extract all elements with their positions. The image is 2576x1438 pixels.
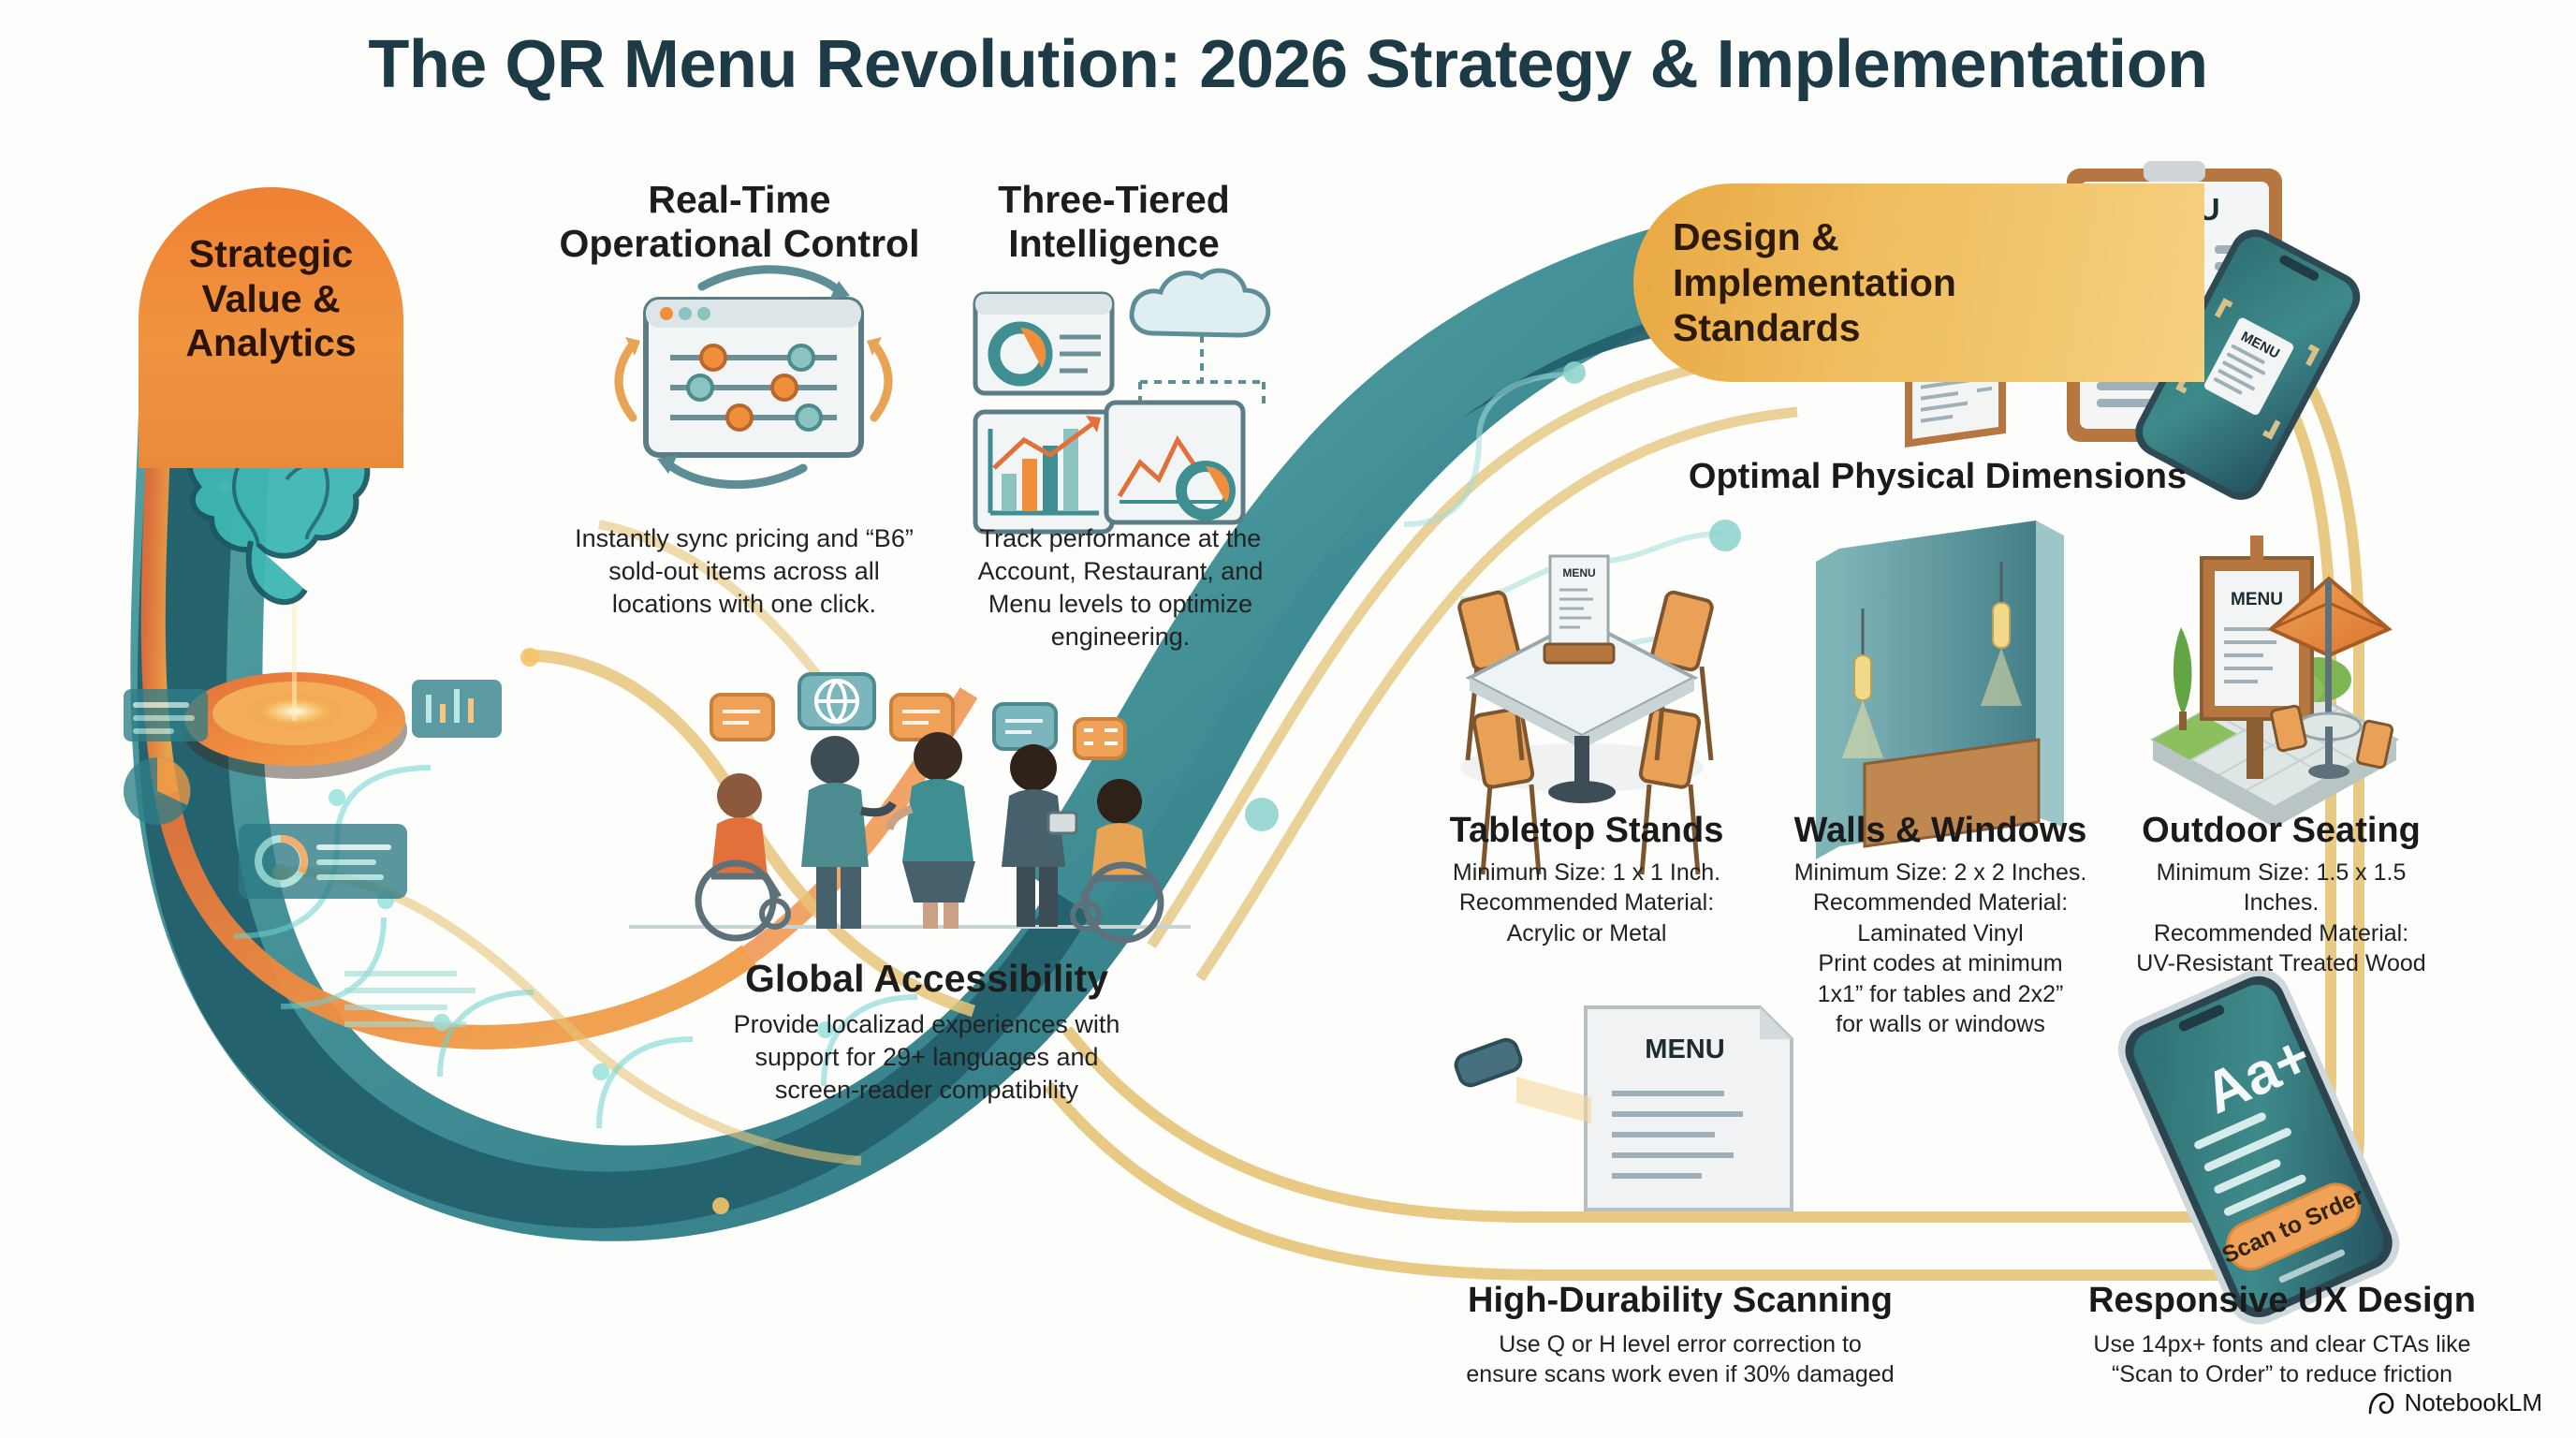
feature-2-body-line-1: Track performance at the [966, 522, 1275, 555]
dimension-card-2-line-5: 1x1” for tables and 2x2” [1786, 979, 2095, 1010]
feature-3-body-line-3: screen-reader compatibility [655, 1074, 1198, 1107]
dimension-card-2-line-1: Minimum Size: 2 x 2 Inches. [1786, 858, 2095, 888]
analytics-cloud-icon [975, 271, 1268, 532]
dimension-card-3-title: Outdoor Seating [2117, 811, 2445, 852]
dimension-card-1-line-3: Acrylic or Metal [1432, 918, 1741, 949]
qr-beam-icon [1453, 1036, 1591, 1123]
feature-2-heading-line-1: Three-Tiered [955, 178, 1273, 222]
feature-2-body-line-4: engineering. [966, 621, 1275, 653]
feature-2-body-line-3: Menu levels to optimize [966, 588, 1275, 621]
dimension-card-1-title: Tabletop Stands [1432, 811, 1741, 852]
dimension-card-1-line-1: Minimum Size: 1 x 1 Inch. [1432, 858, 1741, 888]
feature-2-body-line-2: Account, Restaurant, and [966, 555, 1275, 588]
bottom-feature-2-line-1: Use 14px+ fonts and clear CTAs like [2039, 1329, 2525, 1360]
scanned-menu-label: MENU [1645, 1034, 1724, 1064]
dimensions-heading: Optimal Physical Dimensions [1647, 457, 2228, 498]
dimension-card-3-line-3: UV-Resistant Treated Wood [2117, 948, 2445, 979]
bottom-feature-2-line-2: “Scan to Order” to reduce friction [2039, 1359, 2525, 1390]
feature-global-accessibility: Global Accessibility Provide localizad e… [655, 957, 1198, 1107]
bottom-feature-1-title: High-Durability Scanning [1432, 1281, 1928, 1322]
feature-real-time-operational-control-heading: Real-Time Operational Control [534, 178, 945, 265]
pill-left-line-2: Value & [185, 277, 356, 322]
wall-illustration: MENU [1816, 299, 2064, 859]
dimension-card-2-title: Walls & Windows [1786, 811, 2095, 852]
cloud-icon [1132, 271, 1268, 335]
feature-2-heading-line-2: Intelligence [955, 222, 1273, 266]
pill-right-line-2: Implementation [1673, 260, 1956, 305]
dimension-card-2-line-2: Recommended Material: [1786, 888, 2095, 918]
section-pill-design-standards: Design & Implementation Standards [1633, 183, 2204, 382]
page-title: The QR Menu Revolution: 2026 Strategy & … [0, 26, 2576, 103]
feature-three-tiered-intelligence-body: Track performance at the Account, Restau… [966, 522, 1275, 653]
dashboard-sliders-icon [619, 270, 888, 485]
bottom-feature-1-line-2: ensure scans work even if 30% damaged [1432, 1359, 1928, 1390]
tabletop-menu-label: MENU [1562, 566, 1595, 580]
feature-1-body-line-1: Instantly sync pricing and “B6” [543, 522, 945, 555]
infographic-canvas: MENU MENU [0, 0, 2576, 1438]
feature-3-body-line-2: support for 29+ languages and [655, 1041, 1198, 1074]
pill-right-line-3: Standards [1673, 305, 1956, 350]
outdoor-menu-label: MENU [2231, 590, 2283, 609]
dimension-card-3-line-2: Recommended Material: [2117, 918, 2445, 949]
dimension-card-2-line-3: Laminated Vinyl [1786, 918, 2095, 949]
dimension-card-tabletop-stands: Tabletop Stands Minimum Size: 1 x 1 Inch… [1432, 811, 1741, 948]
section-pill-strategic-value: Strategic Value & Analytics [139, 187, 403, 468]
pill-right-line-1: Design & [1673, 214, 1956, 259]
bottom-feature-1-line-1: Use Q or H level error correction to [1432, 1329, 1928, 1360]
bottom-feature-high-durability-scanning: High-Durability Scanning Use Q or H leve… [1432, 1281, 1928, 1390]
feature-3-heading: Global Accessibility [655, 957, 1198, 1001]
feature-1-heading-line-2: Operational Control [534, 222, 945, 266]
feature-1-heading-line-1: Real-Time [534, 178, 945, 222]
dimension-card-2-line-6: for walls or windows [1786, 1009, 2095, 1040]
feature-three-tiered-intelligence-heading: Three-Tiered Intelligence [955, 178, 1273, 265]
pill-left-line-1: Strategic [185, 232, 356, 277]
dimension-card-1-line-2: Recommended Material: [1432, 888, 1741, 918]
feature-real-time-operational-control-body: Instantly sync pricing and “B6” sold-out… [543, 522, 945, 621]
dimension-card-outdoor-seating: Outdoor Seating Minimum Size: 1.5 x 1.5 … [2117, 811, 2445, 979]
dimension-card-3-line-1: Minimum Size: 1.5 x 1.5 Inches. [2117, 858, 2445, 918]
feature-3-body-line-1: Provide localizad experiences with [655, 1008, 1198, 1041]
notebooklm-spiral-icon [2367, 1391, 2395, 1416]
bottom-feature-responsive-ux-design: Responsive UX Design Use 14px+ fonts and… [2039, 1281, 2525, 1390]
person-standing-2 [889, 732, 975, 929]
pill-left-line-3: Analytics [185, 321, 356, 366]
dimension-card-walls-and-windows: Walls & Windows Minimum Size: 2 x 2 Inch… [1786, 811, 2095, 1040]
bottom-feature-2-title: Responsive UX Design [2039, 1281, 2525, 1322]
feature-1-body-line-2: sold-out items across all [543, 555, 945, 588]
watermark-label: NotebookLM [2405, 1388, 2542, 1417]
notebooklm-watermark: NotebookLM [2367, 1388, 2542, 1417]
scanned-menu-artwork: MENU [1453, 1007, 1792, 1210]
feature-1-body-line-3: locations with one click. [543, 588, 945, 621]
dimension-card-2-line-4: Print codes at minimum [1786, 948, 2095, 979]
